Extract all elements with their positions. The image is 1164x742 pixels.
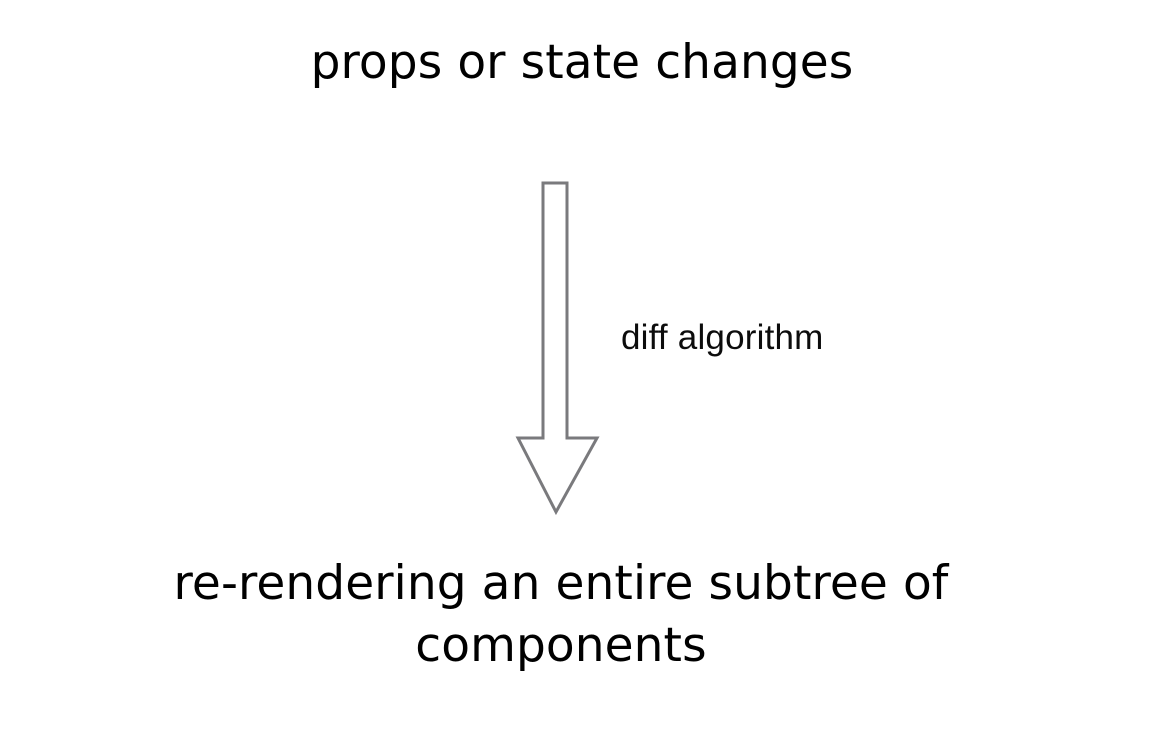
source-node-label: props or state changes	[0, 34, 1164, 92]
target-node-label: re-rendering an entire subtree of compon…	[0, 553, 1122, 677]
edge-label-diff-algorithm: diff algorithm	[621, 317, 824, 359]
target-node-label-line-1: re-rendering an entire subtree of	[0, 553, 1122, 615]
target-node-label-line-2: components	[0, 615, 1122, 677]
down-block-arrow-icon	[505, 172, 615, 527]
diagram-canvas: props or state changes diff algorithm re…	[0, 0, 1164, 742]
